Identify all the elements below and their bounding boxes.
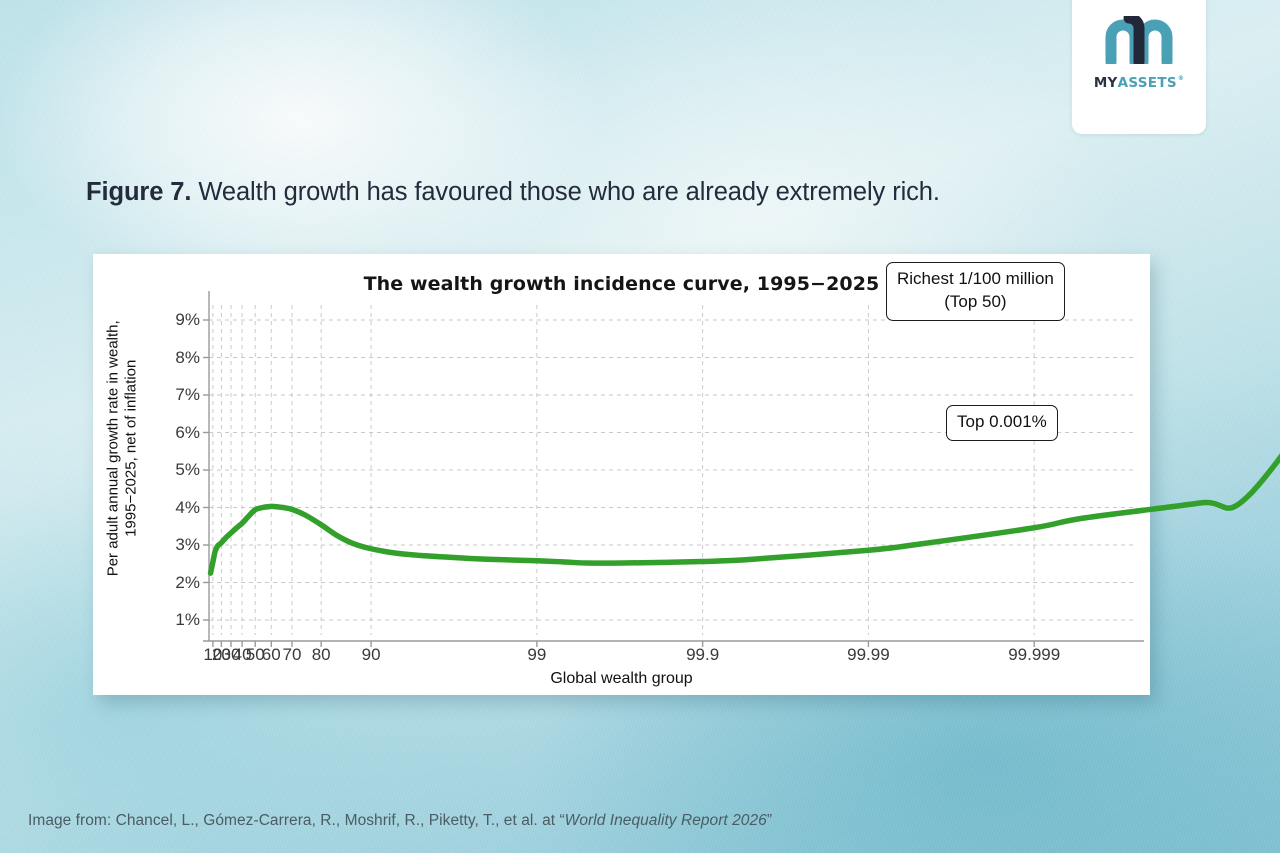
x-tick-label: 99.9 bbox=[686, 645, 719, 665]
x-tick-label: 99 bbox=[527, 645, 546, 665]
source-prefix: Image from: Chancel, L., Gómez-Carrera, … bbox=[28, 812, 565, 829]
figure-caption: Wealth growth has favoured those who are… bbox=[191, 178, 940, 206]
x-tick-label: 70 bbox=[283, 645, 302, 665]
brand-wordmark-my: MY bbox=[1094, 75, 1118, 91]
annotation-line-1: Richest 1/100 million bbox=[897, 268, 1054, 291]
source-suffix: ” bbox=[767, 812, 772, 829]
figure-number: Figure 7. bbox=[86, 178, 191, 206]
brand-wordmark: MYASSETS® bbox=[1094, 75, 1184, 91]
y-axis-label: Per adult annual growth rate in wealth, … bbox=[105, 268, 142, 628]
annotation-line-2: (Top 50) bbox=[897, 291, 1054, 314]
y-tick-label: 3% bbox=[175, 535, 200, 555]
y-tick-label: 2% bbox=[175, 573, 200, 593]
y-tick-label: 4% bbox=[175, 498, 200, 518]
x-axis-label: Global wealth group bbox=[93, 670, 1150, 688]
x-tick-label: 80 bbox=[312, 645, 331, 665]
brand-wordmark-assets: ASSETS bbox=[1118, 75, 1177, 91]
x-tick-label: 60 bbox=[262, 645, 281, 665]
y-tick-label: 7% bbox=[175, 385, 200, 405]
x-tick-label: 90 bbox=[362, 645, 381, 665]
chart-card: The wealth growth incidence curve, 1995−… bbox=[93, 254, 1150, 695]
annotation-top-0-001-percent: Top 0.001% bbox=[946, 405, 1058, 441]
y-tick-label: 6% bbox=[175, 423, 200, 443]
brand-trademark: ® bbox=[1178, 76, 1184, 82]
source-title: World Inequality Report 2026 bbox=[565, 812, 767, 829]
annotation-line-1: Top 0.001% bbox=[957, 411, 1047, 434]
figure-heading: Figure 7. Wealth growth has favoured tho… bbox=[86, 178, 940, 207]
y-tick-label: 1% bbox=[175, 610, 200, 630]
x-tick-label: 99.999 bbox=[1008, 645, 1060, 665]
y-axis-label-line2: 1995−2025, net of inflation bbox=[123, 268, 141, 628]
annotation-richest-1-per-100-million: Richest 1/100 million (Top 50) bbox=[886, 262, 1065, 321]
logo-inner: MYASSETS® bbox=[1072, 16, 1206, 91]
slide-canvas: MYASSETS® Figure 7. Wealth growth has fa… bbox=[0, 0, 1280, 853]
y-tick-label: 5% bbox=[175, 460, 200, 480]
wealth-growth-incidence-curve bbox=[209, 305, 1134, 635]
y-tick-label: 8% bbox=[175, 348, 200, 368]
y-axis-label-line1: Per adult annual growth rate in wealth, bbox=[105, 268, 123, 628]
y-tick-label: 9% bbox=[175, 310, 200, 330]
plot-area: 9%8%7%6%5%4%3%2%1% 102030405060708090999… bbox=[209, 305, 1134, 635]
brand-logo-card: MYASSETS® bbox=[1072, 0, 1206, 134]
x-tick-label: 99.99 bbox=[847, 645, 890, 665]
source-attribution: Image from: Chancel, L., Gómez-Carrera, … bbox=[28, 812, 772, 830]
myassets-m-logo-icon bbox=[1104, 16, 1174, 64]
